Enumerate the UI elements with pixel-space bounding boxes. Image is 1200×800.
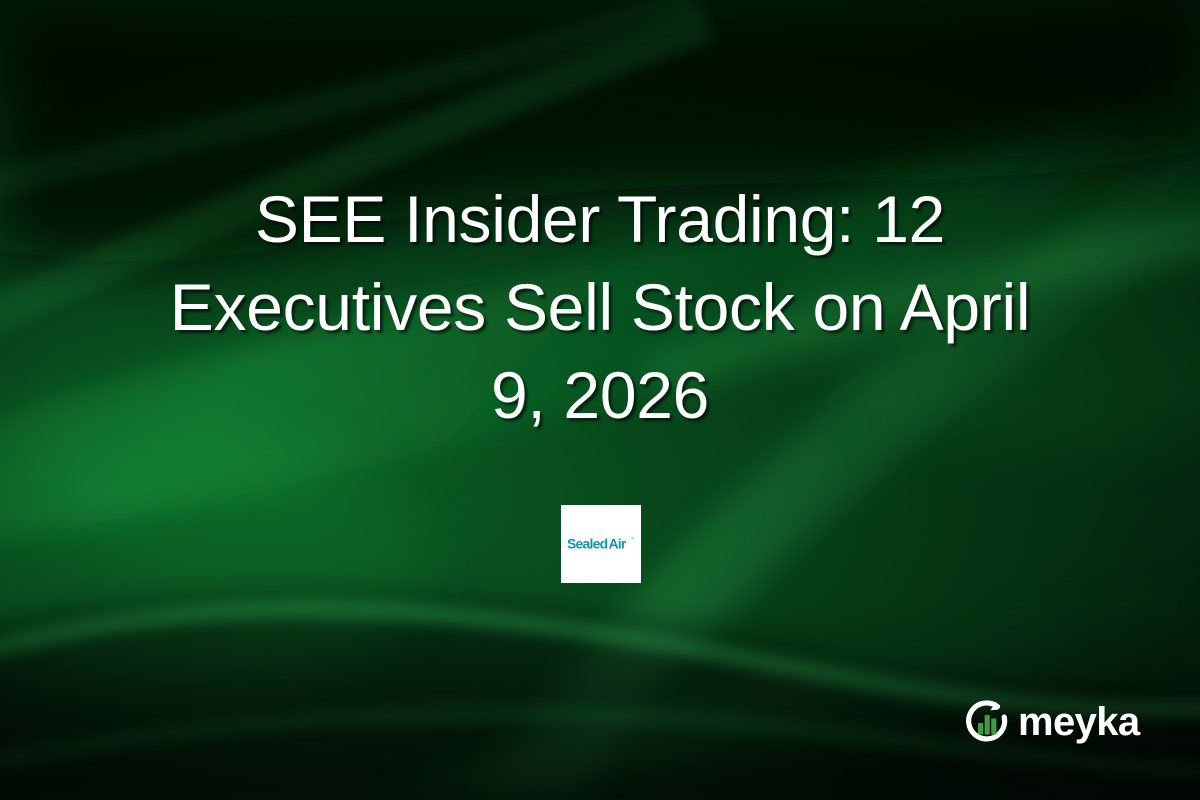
meyka-bar-2 [985,715,990,735]
slide-canvas: SEE Insider Trading: 12 Executives Sell … [0,0,1200,800]
page-title: SEE Insider Trading: 12 Executives Sell … [48,176,1152,439]
title-block: SEE Insider Trading: 12 Executives Sell … [0,176,1200,439]
meyka-bar-3 [991,719,996,735]
company-logo-tile: Sealed Air ® [561,505,641,583]
title-line-3: 9, 2026 [491,358,709,432]
meyka-logo-icon [963,698,1011,746]
registered-trademark-mark: ® [631,535,635,541]
meyka-wordmark: meyka [1018,702,1140,742]
title-line-2: Executives Sell Stock on April [170,270,1030,344]
sealed-air-wordmark-part1: Sealed [567,536,608,552]
sealed-air-wordmark-part2: Air [609,536,627,552]
meyka-bar-1 [978,723,983,735]
meyka-brand-lockup[interactable]: meyka [963,698,1140,746]
sealed-air-logo-icon: Sealed Air ® [567,533,635,555]
title-line-1: SEE Insider Trading: 12 [255,182,945,256]
